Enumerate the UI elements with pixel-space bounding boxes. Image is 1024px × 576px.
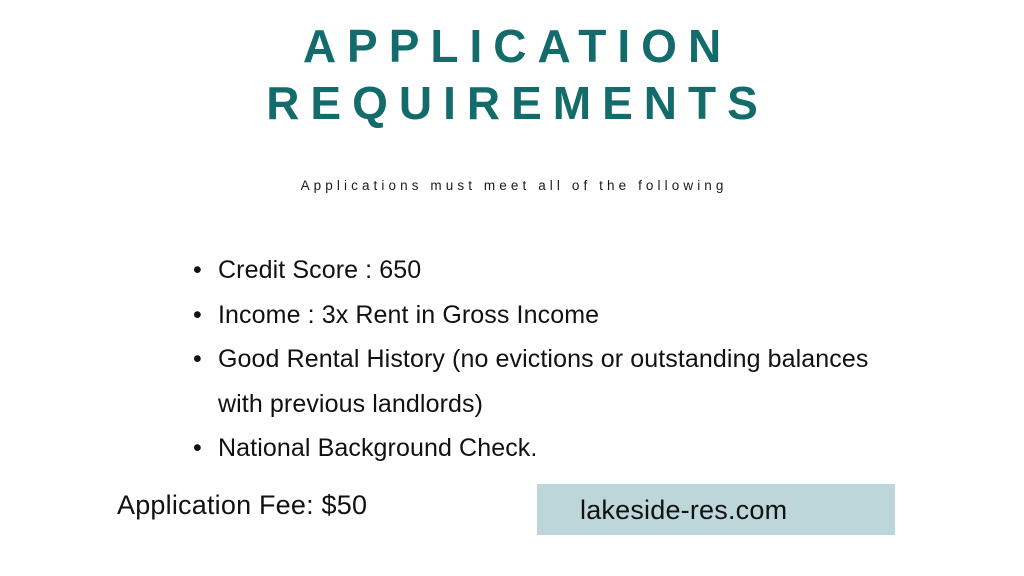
title-line-1: APPLICATION [0,18,1024,75]
list-item-label: National Background Check. [218,426,893,471]
title-line-2: REQUIREMENTS [0,75,1024,132]
list-item: • Income : 3x Rent in Gross Income [193,293,893,338]
list-item: • Credit Score : 650 [193,248,893,293]
bullet-icon: • [193,248,202,293]
website-url-label: lakeside-res.com [537,494,787,526]
list-item-label: Credit Score : 650 [218,248,893,293]
bullet-icon: • [193,426,202,471]
page-title: APPLICATION REQUIREMENTS [0,18,1024,132]
list-item: • National Background Check. [193,426,893,471]
application-fee-label: Application Fee: $50 [117,487,367,523]
website-badge[interactable]: lakeside-res.com [537,484,895,535]
list-item-label: Income : 3x Rent in Gross Income [218,293,893,338]
list-item-label: Good Rental History (no evictions or out… [218,337,893,426]
list-item: • Good Rental History (no evictions or o… [193,337,893,426]
bullet-icon: • [193,293,202,338]
page-subtitle: Applications must meet all of the follow… [0,176,1024,196]
bullet-icon: • [193,337,202,382]
slide-canvas: APPLICATION REQUIREMENTS Applications mu… [0,0,1024,576]
requirements-list: • Credit Score : 650 • Income : 3x Rent … [193,248,893,471]
